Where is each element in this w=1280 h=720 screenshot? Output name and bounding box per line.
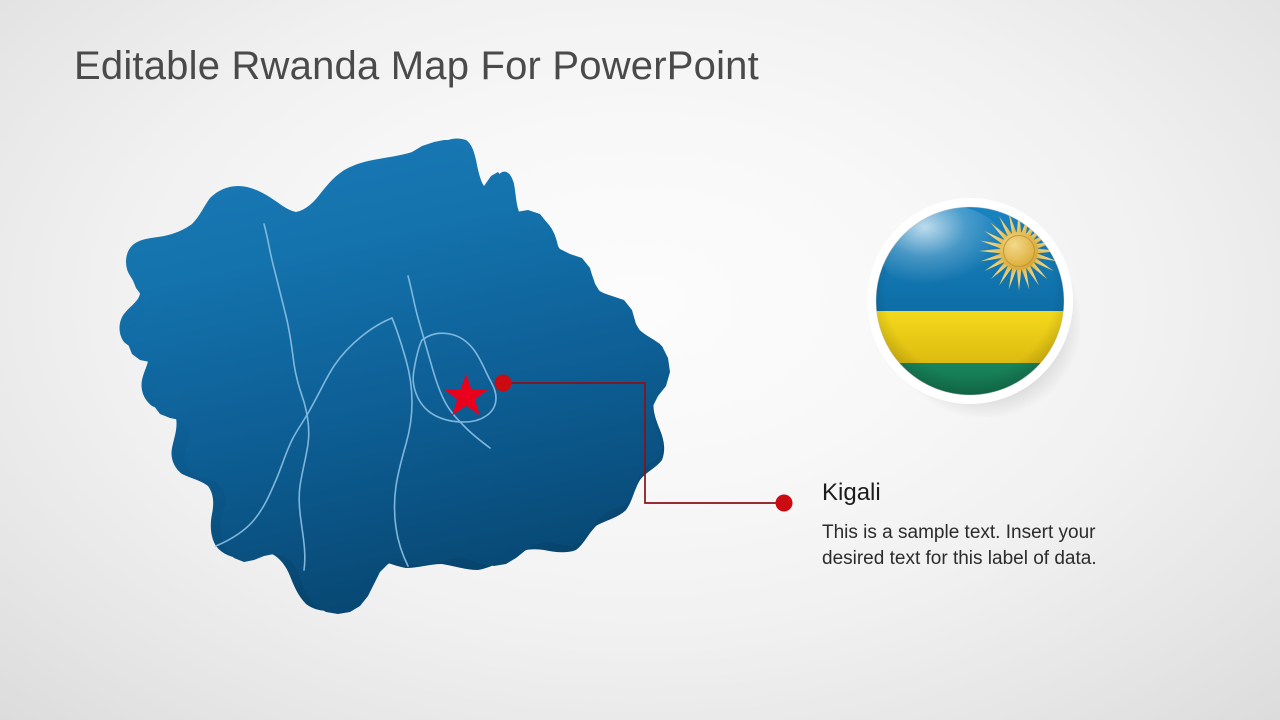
rwanda-map-svg bbox=[96, 128, 696, 658]
callout-label: Kigali This is a sample text. Insert you… bbox=[822, 478, 1152, 572]
rwanda-map[interactable] bbox=[96, 128, 696, 658]
slide-canvas: Editable Rwanda Map For PowerPoint bbox=[0, 0, 1280, 720]
callout-title: Kigali bbox=[822, 478, 1152, 508]
flag-gloss bbox=[880, 205, 1008, 297]
page-title: Editable Rwanda Map For PowerPoint bbox=[74, 44, 759, 89]
rwanda-flag-badge[interactable] bbox=[858, 193, 1082, 417]
connector-dot-label[interactable] bbox=[776, 495, 793, 512]
map-shading bbox=[96, 128, 696, 658]
callout-body-text: This is a sample text. Insert your desir… bbox=[822, 520, 1127, 572]
flag-badge-svg bbox=[858, 193, 1082, 417]
